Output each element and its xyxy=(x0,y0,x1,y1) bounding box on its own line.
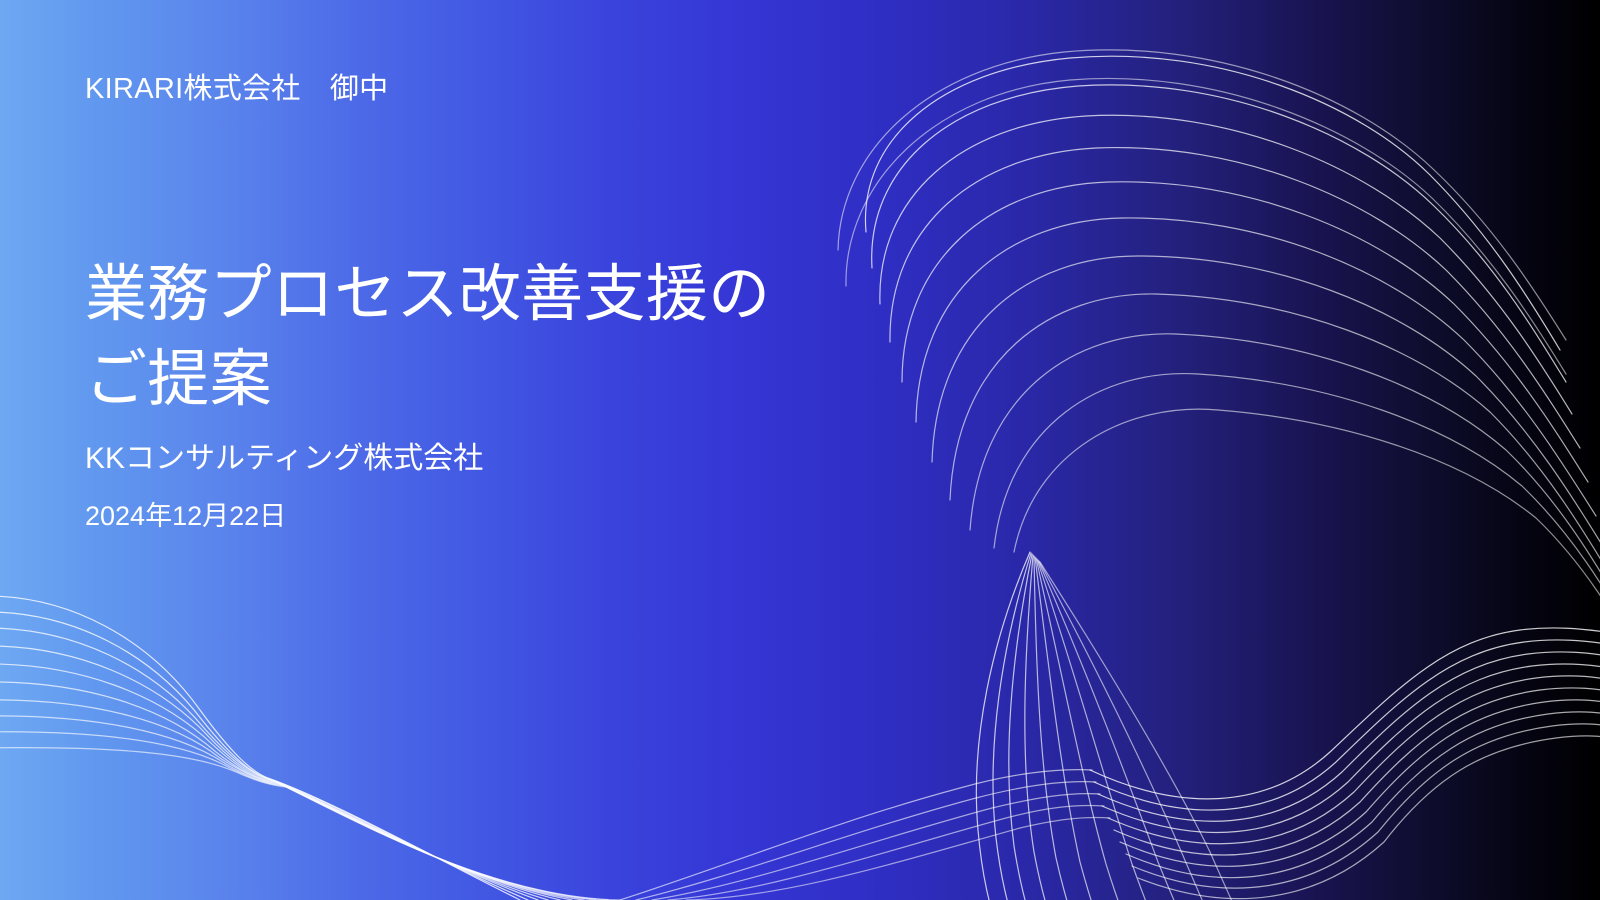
page-title: 業務プロセス改善支援の ご提案 xyxy=(85,252,845,423)
addressee-line: KIRARI株式会社 御中 xyxy=(85,72,388,107)
presenter-meta: KKコンサルティング株式会社 2024年12月22日 xyxy=(85,440,483,533)
title-slide: KIRARI株式会社 御中 業務プロセス改善支援の ご提案 KKコンサルティング… xyxy=(0,0,1600,900)
page-title-line-2: ご提案 xyxy=(85,337,845,423)
page-title-line-1: 業務プロセス改善支援の xyxy=(85,252,845,338)
presentation-date: 2024年12月22日 xyxy=(85,500,483,534)
company-name: KKコンサルティング株式会社 xyxy=(85,440,483,478)
slide-text-layer: KIRARI株式会社 御中 業務プロセス改善支援の ご提案 KKコンサルティング… xyxy=(0,0,1600,900)
